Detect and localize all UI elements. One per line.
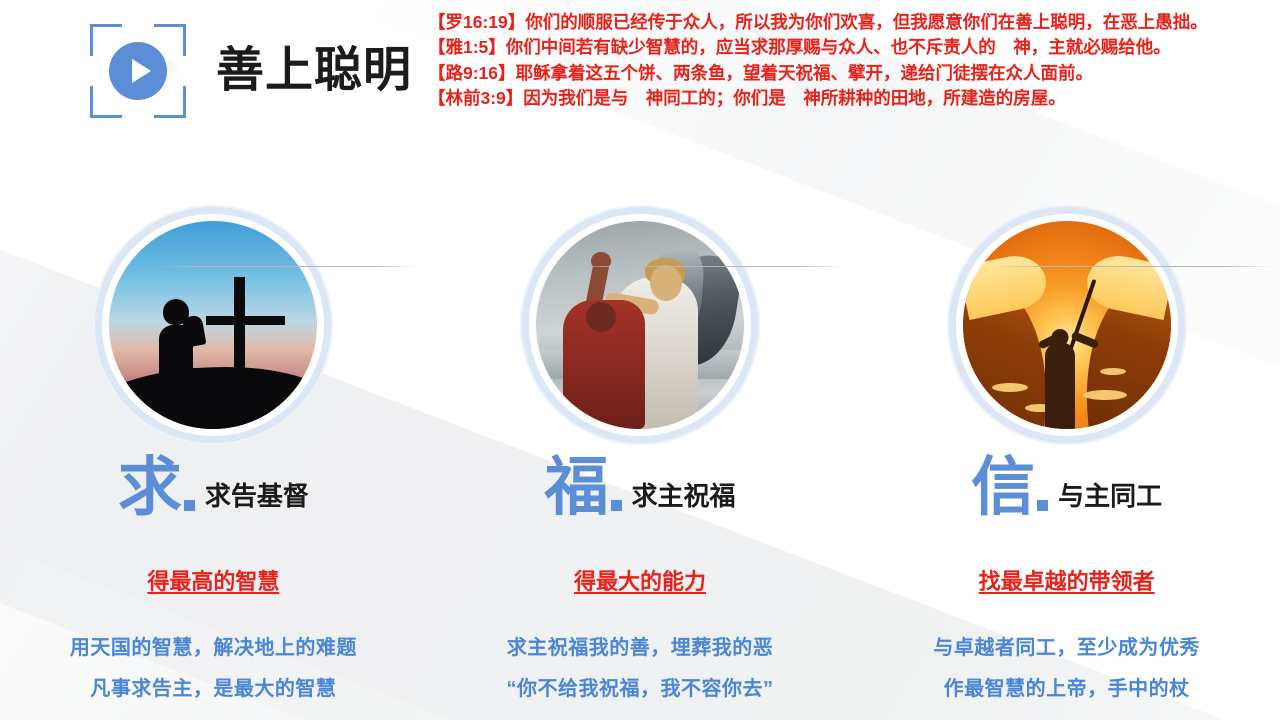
body-line: 作最智慧的上帝，手中的杖 bbox=[853, 669, 1280, 710]
foam bbox=[1100, 368, 1126, 375]
column-fu: 福 求主祝福 得最大的能力 求主祝福我的善，埋葬我的恶 “你不给我祝福，我不容你… bbox=[427, 206, 854, 720]
figure-head bbox=[163, 299, 189, 325]
heading-dot bbox=[611, 500, 622, 511]
ground-silhouette bbox=[109, 367, 317, 429]
scene-parting-sea bbox=[963, 221, 1171, 429]
frame-segment bbox=[90, 24, 122, 27]
image-clip bbox=[963, 221, 1171, 429]
foam bbox=[992, 383, 1028, 392]
divider-line bbox=[569, 266, 846, 267]
heading-subtitle: 与主同工 bbox=[1058, 476, 1162, 517]
slide-root: 善上聪明 【罗16:19】你们的顺服已经传于众人，所以我为你们欢喜，但我愿意你们… bbox=[0, 0, 1280, 720]
frame-segment bbox=[183, 24, 186, 56]
logo-block: 善上聪明 bbox=[88, 22, 412, 120]
body-text: 与卓越者同工，至少成为优秀 作最智慧的上帝，手中的杖 bbox=[853, 628, 1280, 710]
cross-post bbox=[234, 277, 245, 375]
scene-angel bbox=[536, 221, 744, 429]
jacob-wrestling-angel-painting bbox=[529, 214, 751, 436]
big-character: 福 bbox=[545, 458, 609, 517]
scripture-line: 【林前3:9】因为我们是与 神同工的；你们是 神所耕种的田地，所建造的房屋。 bbox=[428, 86, 1254, 111]
frame-segment bbox=[154, 24, 186, 27]
divider-line bbox=[148, 266, 419, 267]
praying-silhouette-cross-photo bbox=[102, 214, 324, 436]
play-button-icon bbox=[88, 22, 188, 120]
red-subtitle: 得最大的能力 bbox=[427, 564, 854, 596]
frame-segment bbox=[90, 86, 93, 118]
column-heading: 福 求主祝福 bbox=[427, 458, 854, 517]
play-triangle-icon bbox=[132, 59, 151, 83]
moses-figure bbox=[1045, 342, 1075, 429]
image-clip bbox=[109, 221, 317, 429]
jacob-head bbox=[586, 302, 616, 332]
content-columns: 求 求告基督 得最高的智慧 用天国的智慧，解决地上的难题 凡事求告主，是最大的智… bbox=[0, 206, 1280, 720]
wave-crest-right bbox=[1083, 250, 1171, 320]
angel-head bbox=[650, 265, 682, 301]
divider-line bbox=[993, 266, 1272, 267]
moses-parting-sea-illustration bbox=[956, 214, 1178, 436]
frame-segment bbox=[154, 115, 186, 118]
foam bbox=[1083, 390, 1127, 400]
frame-segment bbox=[90, 115, 122, 118]
body-text: 求主祝福我的善，埋葬我的恶 “你不给我祝福，我不容你去” bbox=[427, 628, 854, 710]
big-character: 求 bbox=[118, 458, 182, 517]
moses-arm-right bbox=[1070, 331, 1099, 349]
column-qiu: 求 求告基督 得最高的智慧 用天国的智慧，解决地上的难题 凡事求告主，是最大的智… bbox=[0, 206, 427, 720]
logo-circle bbox=[109, 42, 167, 100]
scripture-block: 【罗16:19】你们的顺服已经传于众人，所以我为你们欢喜，但我愿意你们在善上聪明… bbox=[428, 10, 1254, 111]
body-line: 求主祝福我的善，埋葬我的恶 bbox=[427, 628, 854, 669]
column-xin: 信 与主同工 找最卓越的带领者 与卓越者同工，至少成为优秀 作最智慧的上帝，手中… bbox=[853, 206, 1280, 720]
scripture-line: 【罗16:19】你们的顺服已经传于众人，所以我为你们欢喜，但我愿意你们在善上聪明… bbox=[428, 10, 1254, 35]
body-text: 用天国的智慧，解决地上的难题 凡事求告主，是最大的智慧 bbox=[0, 628, 427, 710]
scene-praying bbox=[109, 221, 317, 429]
heading-subtitle: 求告基督 bbox=[205, 476, 309, 517]
frame-segment bbox=[90, 24, 93, 56]
big-character: 信 bbox=[971, 458, 1035, 517]
column-heading: 信 与主同工 bbox=[853, 458, 1280, 517]
red-subtitle: 得最高的智慧 bbox=[0, 564, 427, 596]
body-line: “你不给我祝福，我不容你去” bbox=[427, 669, 854, 710]
red-subtitle: 找最卓越的带领者 bbox=[853, 564, 1280, 596]
heading-dot bbox=[184, 500, 195, 511]
body-line: 与卓越者同工，至少成为优秀 bbox=[853, 628, 1280, 669]
scripture-line: 【雅1:5】你们中间若有缺少智慧的，应当求那厚赐与众人、也不斥责人的 神，主就必… bbox=[428, 35, 1254, 60]
page-title: 善上聪明 bbox=[216, 47, 412, 95]
body-line: 凡事求告主，是最大的智慧 bbox=[0, 669, 427, 710]
column-heading: 求 求告基督 bbox=[0, 458, 427, 517]
body-line: 用天国的智慧，解决地上的难题 bbox=[0, 628, 427, 669]
wave-crest-left bbox=[963, 250, 1051, 320]
heading-subtitle: 求主祝福 bbox=[632, 476, 736, 517]
frame-segment bbox=[183, 86, 186, 118]
cross-crossbar bbox=[206, 316, 285, 325]
image-clip bbox=[536, 221, 744, 429]
scripture-line: 【路9:16】耶稣拿着这五个饼、两条鱼，望着天祝福、擘开，递给门徒摆在众人面前。 bbox=[428, 61, 1254, 86]
heading-dot bbox=[1037, 500, 1048, 511]
